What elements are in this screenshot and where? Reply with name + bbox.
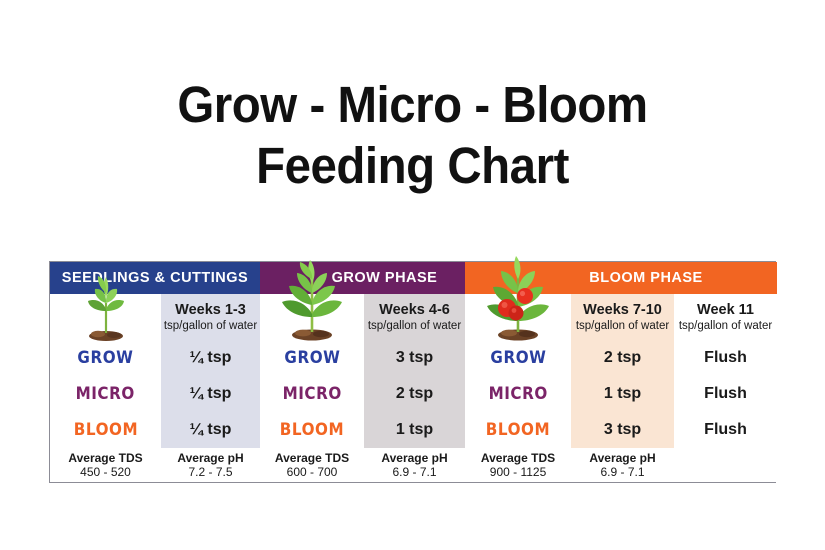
week-cell-flush: Week 11 tsp/gallon of water — [674, 294, 777, 340]
week-header-row: Weeks 1-3 tsp/gallon of water — [50, 294, 777, 340]
table-row-micro: MICRO ¼ tsp MICRO 2 tsp MICRO 1 tsp — [50, 376, 777, 412]
week-label-flush: Week 11 — [674, 302, 777, 319]
nutrient-label-bloom-bloom: BLOOM — [465, 412, 571, 448]
seedling-plant-cell — [50, 294, 161, 340]
dose-micro-growphase: 2 tsp — [364, 376, 465, 412]
dose-grow-week11: Flush — [674, 340, 777, 376]
week-label-seedlings: Weeks 1-3 — [161, 302, 260, 319]
phase-header-bloom: BLOOM PHASE — [465, 262, 777, 294]
table-row-grow: GROW ¼ tsp GROW 3 tsp GROW 2 tsp — [50, 340, 777, 376]
average-tds-bloom: Average TDS 900 - 1125 — [465, 448, 571, 482]
dose-micro-bloomphase: 1 tsp — [571, 376, 674, 412]
nutrient-label-grow-bloom: GROW — [465, 340, 571, 376]
week-cell-seedlings: Weeks 1-3 tsp/gallon of water — [161, 294, 260, 340]
nutrient-label-micro-seedlings: MICRO — [50, 376, 161, 412]
phase-header-grow: GROW PHASE — [260, 262, 465, 294]
week-cell-bloom: Weeks 7-10 tsp/gallon of water — [571, 294, 674, 340]
feeding-chart-page: Grow - Micro - Bloom Feeding Chart SEEDL… — [0, 0, 825, 550]
phase-header-row: SEEDLINGS & CUTTINGS GROW PHASE BLOOM PH… — [50, 262, 777, 294]
nutrient-label-grow-grow: GROW — [260, 340, 364, 376]
table-row-bloom: BLOOM ¼ tsp BLOOM 1 tsp BLOOM 3 tsp — [50, 412, 777, 448]
average-ph-seedlings: Average pH 7.2 - 7.5 — [161, 448, 260, 482]
phase-header-bloom-label: BLOOM PHASE — [465, 262, 777, 294]
nutrient-label-bloom-grow: BLOOM — [260, 412, 364, 448]
week-units-flush: tsp/gallon of water — [674, 319, 777, 333]
nutrient-label-grow-seedlings: GROW — [50, 340, 161, 376]
dose-bloom-bloomphase: 3 tsp — [571, 412, 674, 448]
dose-grow-seedlings: ¼ tsp — [161, 340, 260, 376]
week-label-grow: Weeks 4-6 — [364, 302, 465, 319]
grow-plant-cell — [260, 294, 364, 340]
dose-bloom-seedlings: ¼ tsp — [161, 412, 260, 448]
average-tds-seedlings: Average TDS 450 - 520 — [50, 448, 161, 482]
phase-header-seedlings-label: SEEDLINGS & CUTTINGS — [50, 262, 260, 294]
page-title: Grow - Micro - Bloom Feeding Chart — [0, 74, 825, 196]
feeding-chart-table: SEEDLINGS & CUTTINGS GROW PHASE BLOOM PH… — [49, 261, 776, 483]
averages-row: Average TDS 450 - 520 Average pH 7.2 - 7… — [50, 448, 777, 482]
average-ph-grow: Average pH 6.9 - 7.1 — [364, 448, 465, 482]
dose-micro-seedlings: ¼ tsp — [161, 376, 260, 412]
week-units-seedlings: tsp/gallon of water — [161, 319, 260, 333]
nutrient-label-micro-grow: MICRO — [260, 376, 364, 412]
average-ph-bloom: Average pH 6.9 - 7.1 — [571, 448, 674, 482]
title-line-2: Feeding Chart — [29, 135, 796, 196]
week-units-grow: tsp/gallon of water — [364, 319, 465, 333]
nutrient-label-bloom-seedlings: BLOOM — [50, 412, 161, 448]
week-label-bloom: Weeks 7-10 — [571, 302, 674, 319]
average-empty-week11 — [674, 448, 777, 482]
dose-micro-week11: Flush — [674, 376, 777, 412]
week-cell-grow: Weeks 4-6 tsp/gallon of water — [364, 294, 465, 340]
phase-header-grow-label: GROW PHASE — [260, 262, 465, 294]
phase-header-seedlings: SEEDLINGS & CUTTINGS — [50, 262, 260, 294]
bloom-plant-cell — [465, 294, 571, 340]
week-units-bloom: tsp/gallon of water — [571, 319, 674, 333]
dose-grow-bloomphase: 2 tsp — [571, 340, 674, 376]
dose-bloom-growphase: 1 tsp — [364, 412, 465, 448]
average-tds-grow: Average TDS 600 - 700 — [260, 448, 364, 482]
title-line-1: Grow - Micro - Bloom — [29, 74, 796, 135]
nutrient-label-micro-bloom: MICRO — [465, 376, 571, 412]
dose-grow-growphase: 3 tsp — [364, 340, 465, 376]
dose-bloom-week11: Flush — [674, 412, 777, 448]
seedling-plant-icon — [50, 288, 161, 340]
